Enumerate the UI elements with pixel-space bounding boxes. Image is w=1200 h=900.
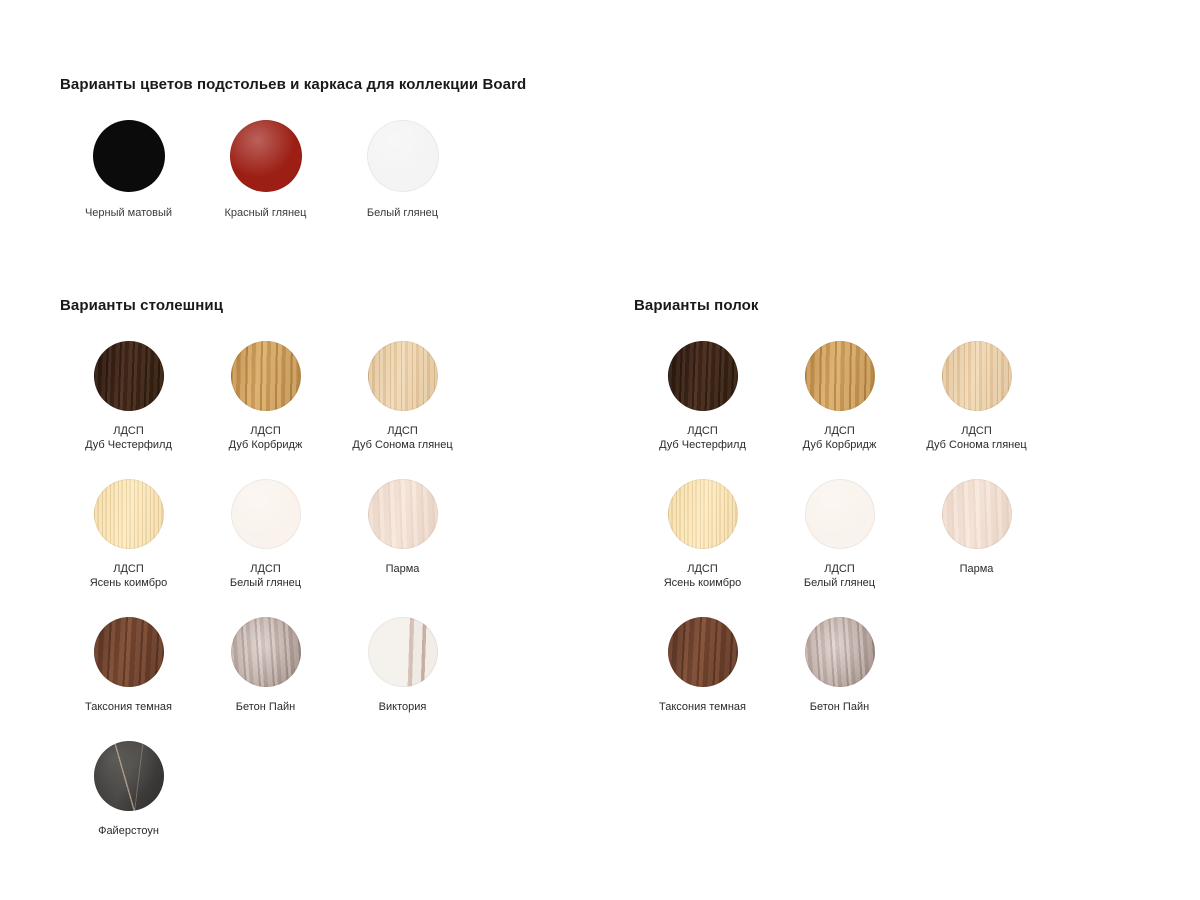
swatch-label: Парма	[960, 562, 994, 576]
swatch-cell[interactable]: ЛДСПБелый глянец	[197, 479, 334, 590]
tabletops-section-title: Варианты столешниц	[60, 297, 223, 314]
frame-swatch-grid: Черный матовыйКрасный глянецБелый глянец	[60, 120, 471, 220]
color-swatch[interactable]	[668, 479, 738, 549]
swatch-label-name: Парма	[386, 563, 420, 575]
swatch-label: Виктория	[379, 700, 427, 714]
swatch-edge-ring	[231, 479, 301, 549]
swatch-label: ЛДСПДуб Честерфилд	[85, 424, 172, 452]
swatch-label-name: ЛДСП	[961, 425, 992, 437]
swatch-label-name: ЛДСП	[824, 563, 855, 575]
swatch-cell[interactable]: Белый глянец	[334, 120, 471, 220]
swatch-edge-ring	[368, 617, 438, 687]
swatch-edge-ring	[668, 341, 738, 411]
color-swatch[interactable]	[368, 479, 438, 549]
swatch-label-sub: Дуб Корбридж	[803, 438, 877, 452]
swatch-label-sub: Ясень коимбро	[664, 576, 742, 590]
swatch-label-name: Бетон Пайн	[236, 701, 295, 713]
swatch-label: ЛДСПЯсень коимбро	[664, 562, 742, 590]
swatch-cell[interactable]: ЛДСПДуб Сонома глянец	[334, 341, 471, 452]
swatch-label: ЛДСПДуб Сонома глянец	[352, 424, 452, 452]
shelves-swatch-grid: ЛДСПДуб ЧестерфилдЛДСПДуб КорбриджЛДСПДу…	[634, 341, 1045, 714]
swatch-label: Бетон Пайн	[236, 700, 295, 714]
color-swatch[interactable]	[367, 120, 439, 192]
swatch-edge-ring	[942, 341, 1012, 411]
swatch-edge-ring	[805, 617, 875, 687]
swatch-label: ЛДСПДуб Сонома глянец	[926, 424, 1026, 452]
shelves-section-title: Варианты полок	[634, 297, 759, 314]
swatch-label-name: Бетон Пайн	[810, 701, 869, 713]
swatch-label-name: Красный глянец	[225, 207, 307, 219]
swatch-label: Черный матовый	[85, 206, 172, 220]
swatch-cell[interactable]: ЛДСПДуб Корбридж	[197, 341, 334, 452]
color-swatch[interactable]	[805, 479, 875, 549]
color-swatch[interactable]	[231, 479, 301, 549]
swatch-label: ЛДСПДуб Корбридж	[229, 424, 303, 452]
swatch-label-name: Таксония темная	[659, 701, 746, 713]
swatch-cell[interactable]: ЛДСПЯсень коимбро	[60, 479, 197, 590]
swatch-cell[interactable]: ЛДСПЯсень коимбро	[634, 479, 771, 590]
color-swatch[interactable]	[805, 617, 875, 687]
swatch-label-sub: Белый глянец	[804, 576, 875, 590]
swatch-edge-ring	[367, 120, 439, 192]
color-swatch[interactable]	[231, 617, 301, 687]
frame-section-title: Варианты цветов подстольев и каркаса для…	[60, 76, 526, 93]
swatch-cell[interactable]: Таксония темная	[634, 617, 771, 714]
swatch-label: ЛДСПБелый глянец	[804, 562, 875, 590]
color-swatch[interactable]	[668, 617, 738, 687]
swatch-edge-ring	[94, 341, 164, 411]
swatch-label-name: ЛДСП	[687, 425, 718, 437]
swatch-cell[interactable]: Черный матовый	[60, 120, 197, 220]
swatch-label-name: ЛДСП	[113, 563, 144, 575]
swatch-edge-ring	[368, 341, 438, 411]
swatch-label-sub: Дуб Честерфилд	[659, 438, 746, 452]
swatch-label: ЛДСПЯсень коимбро	[90, 562, 168, 590]
swatch-edge-ring	[94, 741, 164, 811]
swatch-label: Таксония темная	[659, 700, 746, 714]
swatch-cell[interactable]: ЛДСПДуб Честерфилд	[60, 341, 197, 452]
swatch-cell[interactable]: ЛДСПДуб Корбридж	[771, 341, 908, 452]
color-swatch[interactable]	[668, 341, 738, 411]
color-swatch[interactable]	[94, 741, 164, 811]
color-options-page: Варианты цветов подстольев и каркаса для…	[0, 0, 1200, 900]
swatch-cell[interactable]: ЛДСПБелый глянец	[771, 479, 908, 590]
color-swatch[interactable]	[942, 479, 1012, 549]
swatch-label-sub: Дуб Корбридж	[229, 438, 303, 452]
swatch-cell[interactable]: Бетон Пайн	[197, 617, 334, 714]
swatch-label: ЛДСПДуб Честерфилд	[659, 424, 746, 452]
swatch-cell[interactable]: ЛДСПДуб Сонома глянец	[908, 341, 1045, 452]
swatch-label-name: Виктория	[379, 701, 427, 713]
swatch-edge-ring	[231, 617, 301, 687]
swatch-cell[interactable]: Парма	[334, 479, 471, 590]
swatch-label-name: Белый глянец	[367, 207, 438, 219]
color-swatch[interactable]	[368, 341, 438, 411]
swatch-label: Таксония темная	[85, 700, 172, 714]
color-swatch[interactable]	[368, 617, 438, 687]
swatch-label: ЛДСПБелый глянец	[230, 562, 301, 590]
color-swatch[interactable]	[93, 120, 165, 192]
swatch-edge-ring	[230, 120, 302, 192]
swatch-edge-ring	[94, 617, 164, 687]
swatch-label: Парма	[386, 562, 420, 576]
swatch-edge-ring	[231, 341, 301, 411]
swatch-label: ЛДСПДуб Корбридж	[803, 424, 877, 452]
swatch-cell[interactable]: Бетон Пайн	[771, 617, 908, 714]
swatch-edge-ring	[93, 120, 165, 192]
swatch-label-sub: Дуб Честерфилд	[85, 438, 172, 452]
color-swatch[interactable]	[942, 341, 1012, 411]
color-swatch[interactable]	[805, 341, 875, 411]
color-swatch[interactable]	[94, 479, 164, 549]
swatch-label-name: Файерстоун	[98, 825, 159, 837]
swatch-cell[interactable]: Файерстоун	[60, 741, 197, 838]
swatch-label-name: ЛДСП	[687, 563, 718, 575]
swatch-label-name: ЛДСП	[387, 425, 418, 437]
swatch-cell[interactable]: ЛДСПДуб Честерфилд	[634, 341, 771, 452]
swatch-label-name: Парма	[960, 563, 994, 575]
swatch-label-name: ЛДСП	[250, 563, 281, 575]
color-swatch[interactable]	[94, 617, 164, 687]
color-swatch[interactable]	[231, 341, 301, 411]
swatch-label-name: ЛДСП	[113, 425, 144, 437]
swatch-label-sub: Белый глянец	[230, 576, 301, 590]
swatch-cell[interactable]: Парма	[908, 479, 1045, 590]
swatch-label: Красный глянец	[225, 206, 307, 220]
swatch-edge-ring	[942, 479, 1012, 549]
swatch-label-sub: Ясень коимбро	[90, 576, 168, 590]
swatch-label: Бетон Пайн	[810, 700, 869, 714]
swatch-edge-ring	[805, 479, 875, 549]
color-swatch[interactable]	[94, 341, 164, 411]
swatch-edge-ring	[668, 617, 738, 687]
swatch-label-sub: Дуб Сонома глянец	[352, 438, 452, 452]
tabletops-swatch-grid: ЛДСПДуб ЧестерфилдЛДСПДуб КорбриджЛДСПДу…	[60, 341, 471, 838]
swatch-edge-ring	[94, 479, 164, 549]
swatch-cell[interactable]: Таксония темная	[60, 617, 197, 714]
swatch-label: Белый глянец	[367, 206, 438, 220]
swatch-label-sub: Дуб Сонома глянец	[926, 438, 1026, 452]
swatch-label-name: Черный матовый	[85, 207, 172, 219]
swatch-label-name: Таксония темная	[85, 701, 172, 713]
swatch-edge-ring	[368, 479, 438, 549]
swatch-cell[interactable]: Виктория	[334, 617, 471, 714]
swatch-cell[interactable]: Красный глянец	[197, 120, 334, 220]
swatch-edge-ring	[668, 479, 738, 549]
color-swatch[interactable]	[230, 120, 302, 192]
swatch-label-name: ЛДСП	[250, 425, 281, 437]
swatch-label-name: ЛДСП	[824, 425, 855, 437]
swatch-label: Файерстоун	[98, 824, 159, 838]
swatch-edge-ring	[805, 341, 875, 411]
